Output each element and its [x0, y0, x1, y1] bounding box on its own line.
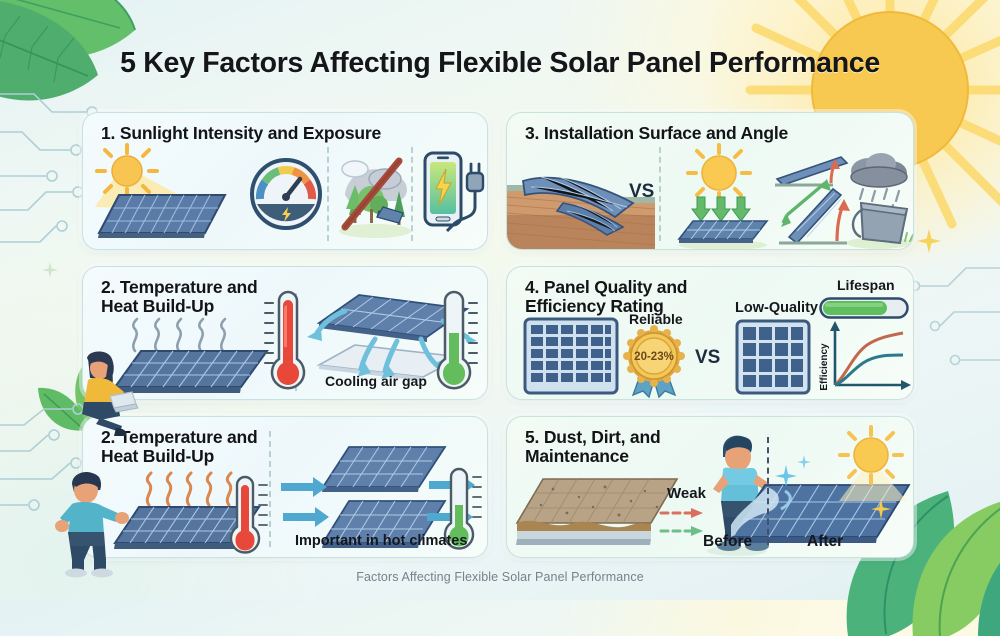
sparkle-icon	[797, 455, 811, 469]
footer-caption: Factors Affecting Flexible Solar Panel P…	[0, 570, 1000, 584]
lifespan-label: Lifespan	[837, 277, 895, 293]
phone-charging-icon	[423, 151, 487, 241]
award-badge-icon: 20-23%	[623, 327, 685, 397]
card-title: 5. Dust, Dirt, and Maintenance	[525, 428, 660, 467]
curved-panel-on-ground-icon	[507, 163, 655, 250]
high-quality-panel-icon	[523, 317, 619, 395]
flat-panel-icon	[675, 219, 771, 249]
circuit-trace-decoration-right	[910, 250, 1000, 400]
card-title: 3. Installation Surface and Angle	[525, 124, 788, 143]
woman-with-laptop-figure	[70, 352, 140, 440]
hot-thermometer-icon	[231, 475, 275, 557]
vs-label: VS	[695, 347, 720, 369]
low-quality-panel-icon	[735, 319, 811, 395]
sun-icon	[831, 429, 909, 503]
hot-thermometer-icon	[261, 289, 305, 395]
weak-label: Weak	[667, 485, 706, 502]
trees-clouds-shade-icon	[337, 155, 411, 239]
card-installation-surface-angle[interactable]: 3. Installation Surface and Angle VS	[506, 112, 914, 250]
card-temperature-heat-buildup-duplicate[interactable]: 2. Temperature and Heat Build-Up	[82, 416, 488, 558]
efficiency-range-badge: 20-23%	[634, 351, 674, 363]
before-label: Before	[703, 533, 752, 551]
solar-panel-icon	[97, 191, 227, 243]
lifespan-progress-icon	[819, 297, 909, 319]
rain-cloud-icon	[839, 151, 914, 249]
cool-thermometer-icon	[435, 289, 481, 395]
efficiency-axis-label: Efficiency	[819, 343, 830, 391]
man-presenting-figure	[52, 470, 128, 578]
card-panel-quality-efficiency[interactable]: 4. Panel Quality and Efficiency Rating R…	[506, 266, 914, 400]
sparkle-decoration-small	[42, 262, 58, 278]
sparkle-decoration	[916, 228, 942, 254]
bucket-icon	[853, 203, 907, 243]
low-quality-label: Low-Quality	[735, 300, 818, 316]
card-sunlight-intensity[interactable]: 1. Sunlight Intensity and Exposure	[82, 112, 488, 250]
card-divider	[327, 147, 329, 241]
efficiency-chart-icon: Efficiency	[819, 321, 911, 395]
page-title: 5 Key Factors Affecting Flexible Solar P…	[0, 47, 1000, 80]
reliable-label: Reliable	[629, 311, 683, 327]
performance-gauge-icon	[249, 157, 323, 231]
dusty-panel-icon	[513, 475, 681, 551]
before-after-divider	[767, 437, 769, 545]
card-dust-dirt-maintenance[interactable]: 5. Dust, Dirt, and Maintenance Weak	[506, 416, 914, 558]
hot-climates-label: Important in hot climates	[295, 533, 467, 549]
heat-waves-icon	[127, 319, 243, 353]
cooling-air-gap-label: Cooling air gap	[325, 373, 427, 389]
card-divider	[659, 147, 661, 241]
card-title: 2. Temperature and Heat Build-Up	[101, 278, 258, 317]
card-divider	[411, 147, 413, 241]
vs-label: VS	[629, 181, 654, 203]
weak-output-arrows-icon	[659, 507, 705, 545]
card-title: 1. Sunlight Intensity and Exposure	[101, 124, 381, 143]
after-label: After	[807, 533, 843, 551]
card-temperature-heat-buildup[interactable]: 2. Temperature and Heat Build-Up	[82, 266, 488, 400]
sparkle-icon	[775, 465, 797, 487]
